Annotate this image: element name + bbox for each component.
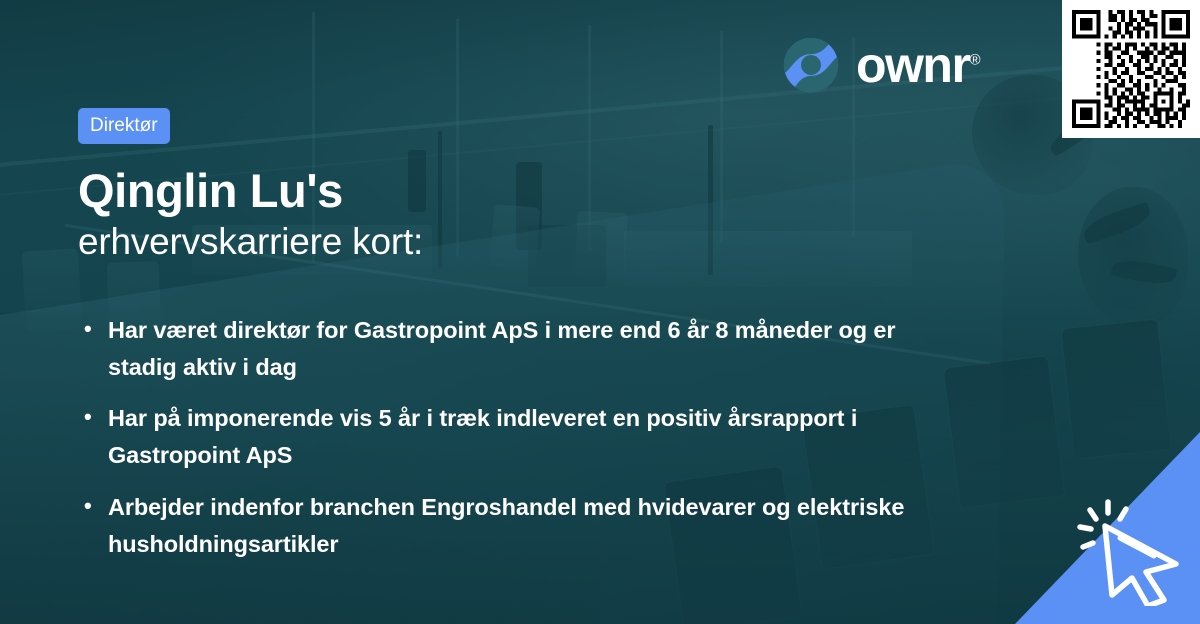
ownr-wordmark: ownr® — [856, 40, 981, 90]
promo-card: ownr® Direktør Qinglin Lu's erhvervskarr… — [0, 0, 1200, 624]
ownr-wordmark-text: ownr — [856, 37, 969, 93]
click-cursor-icon — [1072, 494, 1192, 606]
ownr-logo[interactable]: ownr® — [782, 36, 981, 94]
qr-code[interactable] — [1062, 0, 1200, 138]
list-item: Har på imponerende vis 5 år i træk indle… — [80, 400, 920, 474]
qr-code-image — [1072, 10, 1190, 128]
page-title: Qinglin Lu's — [78, 166, 938, 216]
career-highlights-list: Har været direktør for Gastropoint ApS i… — [80, 312, 920, 577]
registered-mark: ® — [969, 51, 980, 68]
card-content: Direktør Qinglin Lu's erhvervskarriere k… — [78, 108, 938, 263]
list-item: Har været direktør for Gastropoint ApS i… — [80, 312, 920, 386]
page-subtitle: erhvervskarriere kort: — [78, 220, 938, 264]
list-item: Arbejder indenfor branchen Engroshandel … — [80, 489, 920, 563]
ownr-circle-logo-icon — [782, 36, 840, 94]
role-badge: Direktør — [78, 108, 170, 144]
